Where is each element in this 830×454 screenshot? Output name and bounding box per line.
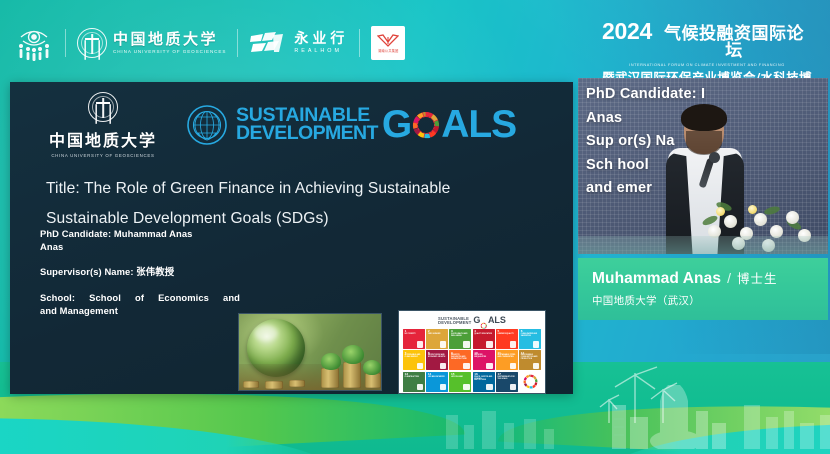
top-logo-bar: 中国地质大学 CHINA UNIVERSITY OF GEOSCIENCES xyxy=(0,0,830,78)
cug-logo-en: CHINA UNIVERSITY OF GEOSCIENCES xyxy=(113,50,226,55)
sdg-word-development: DEVELOPMENT xyxy=(236,125,378,143)
sdg-goal-label: PEACE, JUSTICE AND STRONG INSTITUTIONS xyxy=(474,377,493,382)
sdg-goal-icon xyxy=(417,363,424,370)
sdg-goal-tile: 11SUSTAINABLE CITIES AND COMMUNITIES xyxy=(496,350,518,370)
city-skyline-left-icon xyxy=(610,375,730,454)
poster-word-g: G xyxy=(473,317,480,324)
sdg-goal-tile: 1NO POVERTY xyxy=(403,329,425,349)
sdg-goal-label: LIFE BELOW WATER xyxy=(428,377,447,379)
presentation-slide[interactable]: 中国地质大学 CHINA UNIVERSITY OF GEOSCIENCES xyxy=(10,82,573,394)
sdg-goal-tile: 5GENDER EQUALITY xyxy=(496,329,518,349)
logo-divider xyxy=(237,29,238,57)
sdg-goal-label: GENDER EQUALITY xyxy=(498,334,517,336)
speaker-caption-card: Muhammad Anas / 博士生 中国地质大学（武汉） xyxy=(578,258,828,320)
sdg-goal-label: NO POVERTY xyxy=(405,334,424,336)
forum-title-en: INTERNATIONAL FORUM ON CLIMATE INVESTMEN… xyxy=(602,63,812,67)
poster-sdg-wheel-icon xyxy=(480,317,488,325)
sdg-goal-tile: 2ZERO HUNGER xyxy=(426,329,448,349)
sdg-goal-label: REDUCED INEQUALITIES xyxy=(474,355,493,359)
w-wing-icon xyxy=(377,33,399,47)
sdg-goal-icon xyxy=(440,341,447,348)
name-separator: / xyxy=(727,270,731,286)
screen-root: 中国地质大学 CHINA UNIVERSITY OF GEOSCIENCES xyxy=(0,0,830,454)
sdg-goal-wheel-icon xyxy=(519,372,541,392)
speaker-video[interactable]: PhD Candidate: I Anas Sup or(s) Na Sch h… xyxy=(578,78,828,254)
sdg-goal-label: ZERO HUNGER xyxy=(428,334,447,336)
sdg-goal-icon xyxy=(417,384,424,391)
sdg-goal-tile: 14LIFE BELOW WATER xyxy=(426,372,448,392)
sdg-goal-tile: 15LIFE ON LAND xyxy=(449,372,471,392)
slide-header-logos: 中国地质大学 CHINA UNIVERSITY OF GEOSCIENCES xyxy=(44,94,553,156)
meta-school-line1: School: School of Economics and xyxy=(40,292,240,305)
cug-logo: 中国地质大学 CHINA UNIVERSITY OF GEOSCIENCES xyxy=(77,28,226,58)
sdg-goal-icon xyxy=(440,384,447,391)
sdg-goal-tile: 7AFFORDABLE AND CLEAN ENERGY xyxy=(403,350,425,370)
cug-logo-cn: 中国地质大学 xyxy=(113,32,226,47)
sdg-goal-tile: 10REDUCED INEQUALITIES xyxy=(473,350,495,370)
sdg-goal-grid: 1NO POVERTY2ZERO HUNGER3GOOD HEALTH AND … xyxy=(403,329,541,392)
city-skyline-right-icon xyxy=(740,389,830,454)
sdg-goal-label: SUSTAINABLE CITIES AND COMMUNITIES xyxy=(498,355,517,359)
slide-title-line1: Title: The Role of Green Finance in Achi… xyxy=(46,174,535,204)
sdg-color-wheel-icon xyxy=(410,109,442,141)
sdg-goal-icon xyxy=(440,363,447,370)
sdg-goal-label: LIFE ON LAND xyxy=(451,377,470,379)
sdg-word-als: ALS xyxy=(441,109,516,140)
poster-word-als: ALS xyxy=(488,317,506,324)
meta-phd-candidate-line1: PhD Candidate: Muhammad Anas xyxy=(40,228,240,241)
sdg-goal-label: CLIMATE ACTION xyxy=(405,377,424,379)
sdg-goal-icon xyxy=(417,341,424,348)
un-emblem-icon xyxy=(186,104,228,146)
meta-phd-candidate: PhD Candidate: Muhammad Anas Anas xyxy=(40,228,240,253)
sdg-goal-tile: 13CLIMATE ACTION xyxy=(403,372,425,392)
meta-school: School: School of Economics and and Mana… xyxy=(40,292,240,317)
sdg-goal-tile: 4QUALITY EDUCATION xyxy=(473,329,495,349)
sdg-goal-tile: 16PEACE, JUSTICE AND STRONG INSTITUTIONS xyxy=(473,372,495,392)
sdg-goal-label: CLEAN WATER AND SANITATION xyxy=(521,334,540,338)
sdg-goal-icon xyxy=(463,341,470,348)
sdg-goal-tile: 8DECENT WORK AND ECONOMIC GROWTH xyxy=(426,350,448,370)
sdg-word-g: G xyxy=(382,109,411,140)
realhom-logo-en: REALHOM xyxy=(294,49,348,54)
stage-floor xyxy=(578,236,828,254)
speaker-name-row: Muhammad Anas / 博士生 xyxy=(592,268,828,288)
sdg-goal-tile: 6CLEAN WATER AND SANITATION xyxy=(519,329,541,349)
cug-seal-icon xyxy=(88,92,118,122)
speaker-name-en: Muhammad Anas xyxy=(592,270,721,288)
sponsor-logo-row: 中国地质大学 CHINA UNIVERSITY OF GEOSCIENCES xyxy=(14,22,405,64)
sdg-goal-icon xyxy=(463,384,470,391)
meta-supervisor: Supervisor(s) Name: 张伟教授 xyxy=(40,266,240,279)
sdg-poster-image: SUSTAINABLE DEVELOPMENT G xyxy=(398,310,546,394)
meta-phd-candidate-line2: Anas xyxy=(40,241,240,254)
partner-w-caption: 湖南公共集团 xyxy=(378,48,398,53)
realhom-logo-cn: 永业行 xyxy=(294,32,348,46)
cug-seal-icon xyxy=(77,28,107,58)
logo-divider xyxy=(359,29,360,57)
sdg-poster-header: SUSTAINABLE DEVELOPMENT G xyxy=(403,314,541,327)
sdg-logo: SUSTAINABLE DEVELOPMENT G xyxy=(186,104,516,146)
partner-w-logo: 湖南公共集团 xyxy=(371,26,405,60)
sdg-goal-icon xyxy=(486,384,493,391)
meta-school-line2: and Management xyxy=(40,305,240,318)
sdg-goal-label: INDUSTRY, INNOVATION AND INFRASTRUCTURE xyxy=(451,355,470,360)
sdg-goal-label: RESPONSIBLE CONSUMPTION AND PRODUCTION xyxy=(521,355,540,360)
sdg-goal-label: GOOD HEALTH AND WELL-BEING xyxy=(451,334,470,338)
sdg-goal-icon xyxy=(533,363,540,370)
sdg-goal-label: DECENT WORK AND ECONOMIC GROWTH xyxy=(428,355,447,359)
slide-cug-logo: 中国地质大学 CHINA UNIVERSITY OF GEOSCIENCES xyxy=(44,92,162,158)
sdg-goal-icon xyxy=(486,341,493,348)
forum-emblem-logo-icon xyxy=(14,24,54,62)
green-globe-image xyxy=(238,313,382,391)
realhom-logo: 永业行 REALHOM xyxy=(249,30,348,56)
logo-divider xyxy=(65,29,66,57)
slide-cug-cn: 中国地质大学 xyxy=(49,127,157,151)
sdg-goal-icon xyxy=(510,384,517,391)
sdg-goal-label: PARTNERSHIPS FOR THE GOALS xyxy=(498,377,517,381)
sdg-goal-icon xyxy=(510,363,517,370)
speaker-org-cn: 中国地质大学（武汉） xyxy=(592,293,828,308)
sdg-goal-icon xyxy=(486,363,493,370)
forum-title-cn: 气候投融资国际论坛 xyxy=(656,26,812,60)
sdg-goal-tile: 9INDUSTRY, INNOVATION AND INFRASTRUCTURE xyxy=(449,350,471,370)
sdg-goal-tile: 3GOOD HEALTH AND WELL-BEING xyxy=(449,329,471,349)
poster-word-development: DEVELOPMENT xyxy=(438,321,471,325)
sdg-goal-icon xyxy=(463,363,470,370)
sdg-goal-icon xyxy=(510,341,517,348)
sdg-goal-tile: 12RESPONSIBLE CONSUMPTION AND PRODUCTION xyxy=(519,350,541,370)
realhom-mark-icon xyxy=(249,30,287,56)
slide-cug-en: CHINA UNIVERSITY OF GEOSCIENCES xyxy=(51,153,154,158)
speaker-role-cn: 博士生 xyxy=(737,268,778,287)
slide-meta-block: PhD Candidate: Muhammad Anas Anas Superv… xyxy=(40,228,240,330)
sdg-goal-label: AFFORDABLE AND CLEAN ENERGY xyxy=(405,355,424,359)
forum-year: 2024 xyxy=(602,20,652,43)
led-text-line1: PhD Candidate: I xyxy=(586,84,828,105)
sdg-goal-tile: 17PARTNERSHIPS FOR THE GOALS xyxy=(496,372,518,392)
city-skyline-center-icon xyxy=(440,393,580,454)
slide-title: Title: The Role of Green Finance in Achi… xyxy=(46,174,535,235)
sdg-goal-label: QUALITY EDUCATION xyxy=(474,334,493,336)
sdg-goal-icon xyxy=(533,341,540,348)
